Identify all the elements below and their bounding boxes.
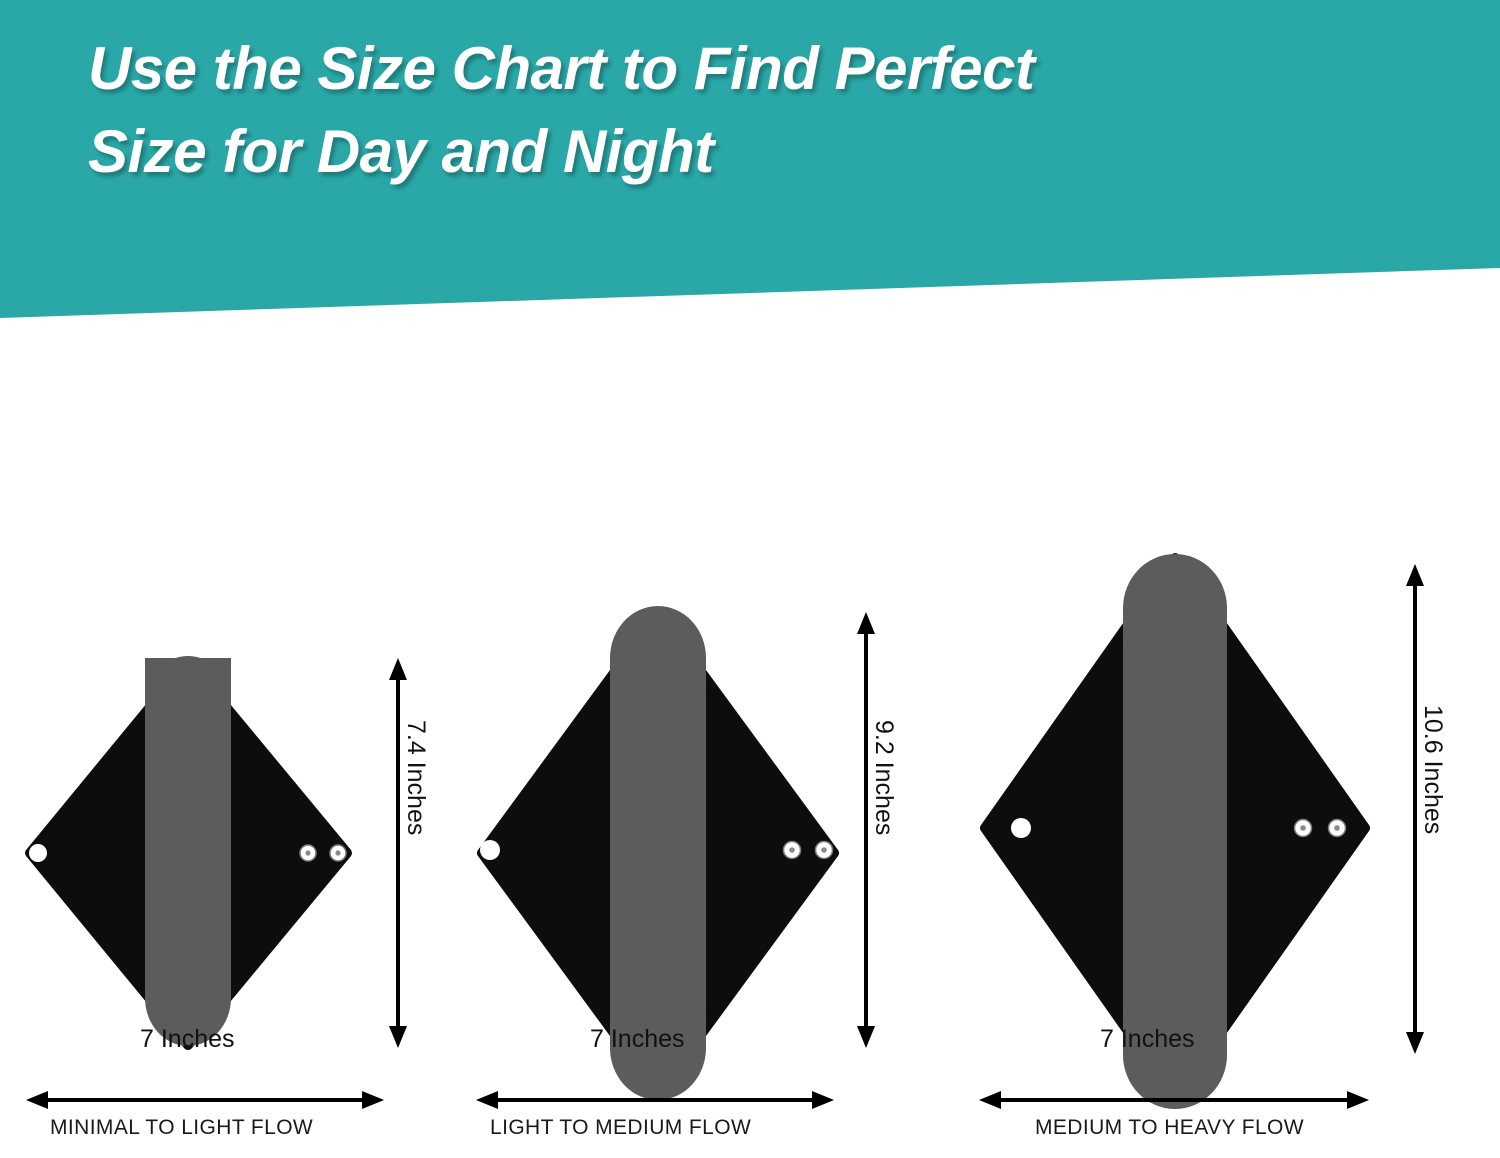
pad-diagram-small xyxy=(20,358,450,1158)
header-banner: Use the Size Chart to Find Perfect Size … xyxy=(0,0,1500,320)
caption-medium: LIGHT TO MEDIUM FLOW xyxy=(490,1116,751,1140)
caption-large: MEDIUM TO HEAVY FLOW xyxy=(1035,1116,1304,1140)
pad-block-medium: 9.2 Inches 7 Inches LIGHT TO MEDIUM FLOW xyxy=(470,320,900,1158)
width-label-large: 7 Inches xyxy=(1100,1025,1195,1054)
pad-block-large: 10.6 Inches 7 Inches MEDIUM TO HEAVY FLO… xyxy=(965,320,1435,1158)
pad-block-small: 7.4 Inches 7 Inches MINIMAL TO LIGHT FLO… xyxy=(20,320,450,1158)
size-chart-page: Use the Size Chart to Find Perfect Size … xyxy=(0,0,1500,1158)
height-label-large: 10.6 Inches xyxy=(1418,705,1447,834)
caption-small: MINIMAL TO LIGHT FLOW xyxy=(50,1116,313,1140)
pads-area: 7.4 Inches 7 Inches MINIMAL TO LIGHT FLO… xyxy=(0,320,1500,1158)
width-label-small: 7 Inches xyxy=(140,1025,235,1054)
snap-left-medium xyxy=(480,840,500,860)
snap-left-large xyxy=(1011,818,1031,838)
width-label-medium: 7 Inches xyxy=(590,1025,685,1054)
height-label-medium: 9.2 Inches xyxy=(869,720,898,835)
snap-left-small xyxy=(29,844,47,862)
page-title: Use the Size Chart to Find Perfect Size … xyxy=(88,28,1438,194)
pad-diagram-large xyxy=(965,358,1435,1158)
height-label-small: 7.4 Inches xyxy=(401,720,430,835)
pad-diagram-medium xyxy=(470,358,900,1158)
pad-body-small xyxy=(30,656,347,1046)
